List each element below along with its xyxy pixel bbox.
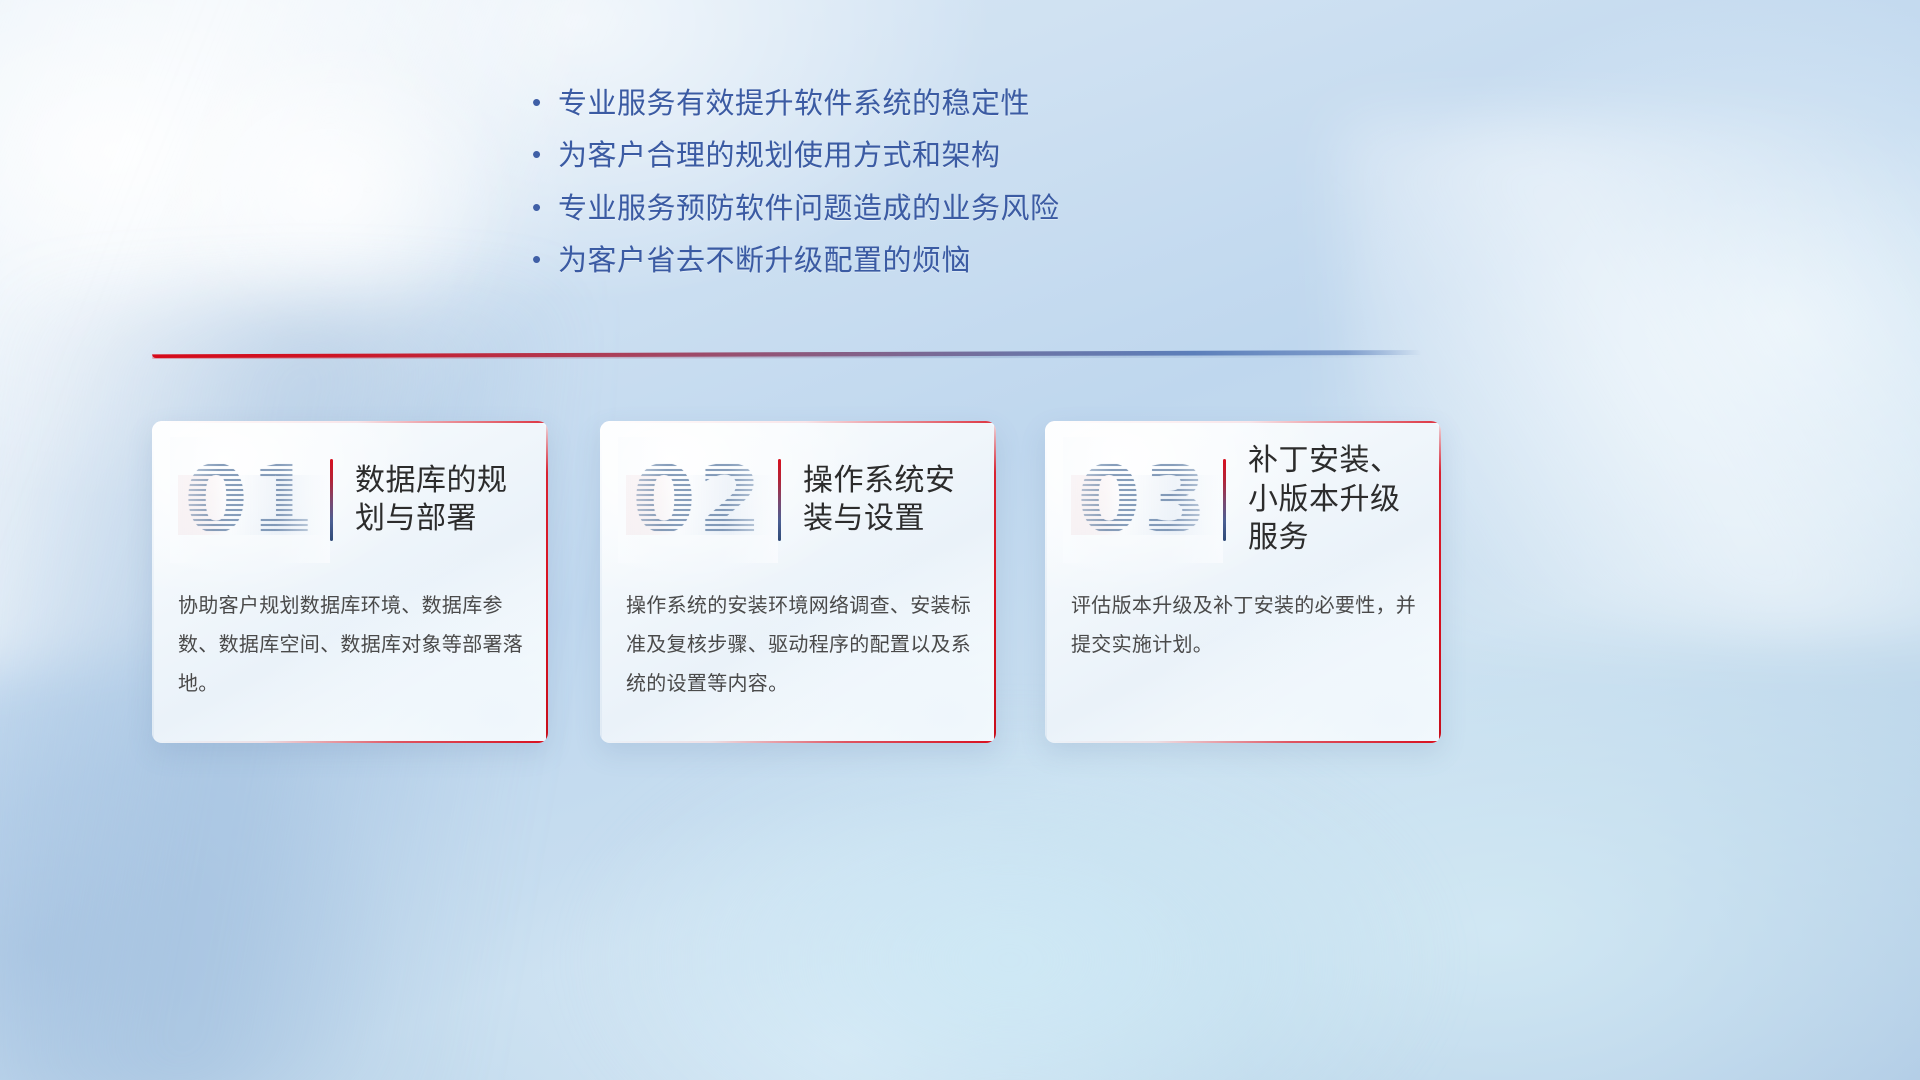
card-title: 操作系统安装与设置 — [803, 462, 996, 539]
card-number-wrap: 03 — [1069, 445, 1217, 555]
bullet-dot-icon: • — [532, 194, 558, 220]
card-body-text: 评估版本升级及补丁安装的必要性，并提交实施计划。 — [1071, 587, 1417, 665]
card-number: 01 — [184, 454, 316, 546]
bullet-text: 为客户省去不断升级配置的烦恼 — [558, 245, 971, 278]
background-glow-upper-left — [150, 40, 510, 340]
card-top-edge — [152, 421, 548, 423]
bullet-list: • 专业服务有效提升软件系统的稳定性 • 为客户合理的规划使用方式和架构 • 专… — [532, 88, 1252, 297]
slide-canvas: • 专业服务有效提升软件系统的稳定性 • 为客户合理的规划使用方式和架构 • 专… — [0, 0, 1920, 1080]
card-number-wrap: 01 — [176, 445, 324, 555]
card-top-edge — [1045, 421, 1441, 423]
bullet-dot-icon: • — [532, 246, 558, 272]
card-title-divider — [778, 459, 781, 541]
card-row: 01 数据库的规划与部署 协助客户规划数据库环境、数据库参数、数据库空间、数据库… — [152, 421, 1452, 743]
bullet-item: • 专业服务有效提升软件系统的稳定性 — [532, 88, 1252, 121]
bullet-dot-icon: • — [532, 141, 558, 167]
card-header: 03 补丁安装、小版本升级服务 — [1045, 439, 1441, 561]
card-02[interactable]: 02 操作系统安装与设置 操作系统的安装环境网络调查、安装标准及复核步骤、驱动程… — [600, 421, 996, 743]
card-bottom-accent — [1045, 741, 1441, 744]
card-bottom-accent — [152, 741, 548, 744]
background-glow-bottom — [560, 700, 1460, 1080]
card-01[interactable]: 01 数据库的规划与部署 协助客户规划数据库环境、数据库参数、数据库空间、数据库… — [152, 421, 548, 743]
card-number-wrap: 02 — [624, 445, 772, 555]
card-number: 03 — [1077, 454, 1209, 546]
bullet-text: 专业服务预防软件问题造成的业务风险 — [558, 193, 1060, 226]
section-divider — [152, 350, 1422, 366]
card-top-edge — [600, 421, 996, 423]
card-bottom-accent — [600, 741, 996, 744]
bullet-text: 为客户合理的规划使用方式和架构 — [558, 140, 1001, 173]
bullet-text: 专业服务有效提升软件系统的稳定性 — [558, 88, 1030, 121]
bullet-item: • 专业服务预防软件问题造成的业务风险 — [532, 193, 1252, 226]
card-body-text: 操作系统的安装环境网络调查、安装标准及复核步骤、驱动程序的配置以及系统的设置等内… — [626, 587, 972, 704]
bullet-item: • 为客户合理的规划使用方式和架构 — [532, 140, 1252, 173]
card-number: 02 — [632, 454, 764, 546]
card-title-divider — [1223, 459, 1226, 541]
card-header: 01 数据库的规划与部署 — [152, 439, 548, 561]
card-body-text: 协助客户规划数据库环境、数据库参数、数据库空间、数据库对象等部署落地。 — [178, 587, 524, 704]
card-title: 补丁安装、小版本升级服务 — [1248, 442, 1441, 557]
card-title-divider — [330, 459, 333, 541]
bullet-dot-icon: • — [532, 89, 558, 115]
bullet-item: • 为客户省去不断升级配置的烦恼 — [532, 245, 1252, 278]
card-header: 02 操作系统安装与设置 — [600, 439, 996, 561]
card-03[interactable]: 03 补丁安装、小版本升级服务 评估版本升级及补丁安装的必要性，并提交实施计划。 — [1045, 421, 1441, 743]
card-title: 数据库的规划与部署 — [355, 462, 548, 539]
